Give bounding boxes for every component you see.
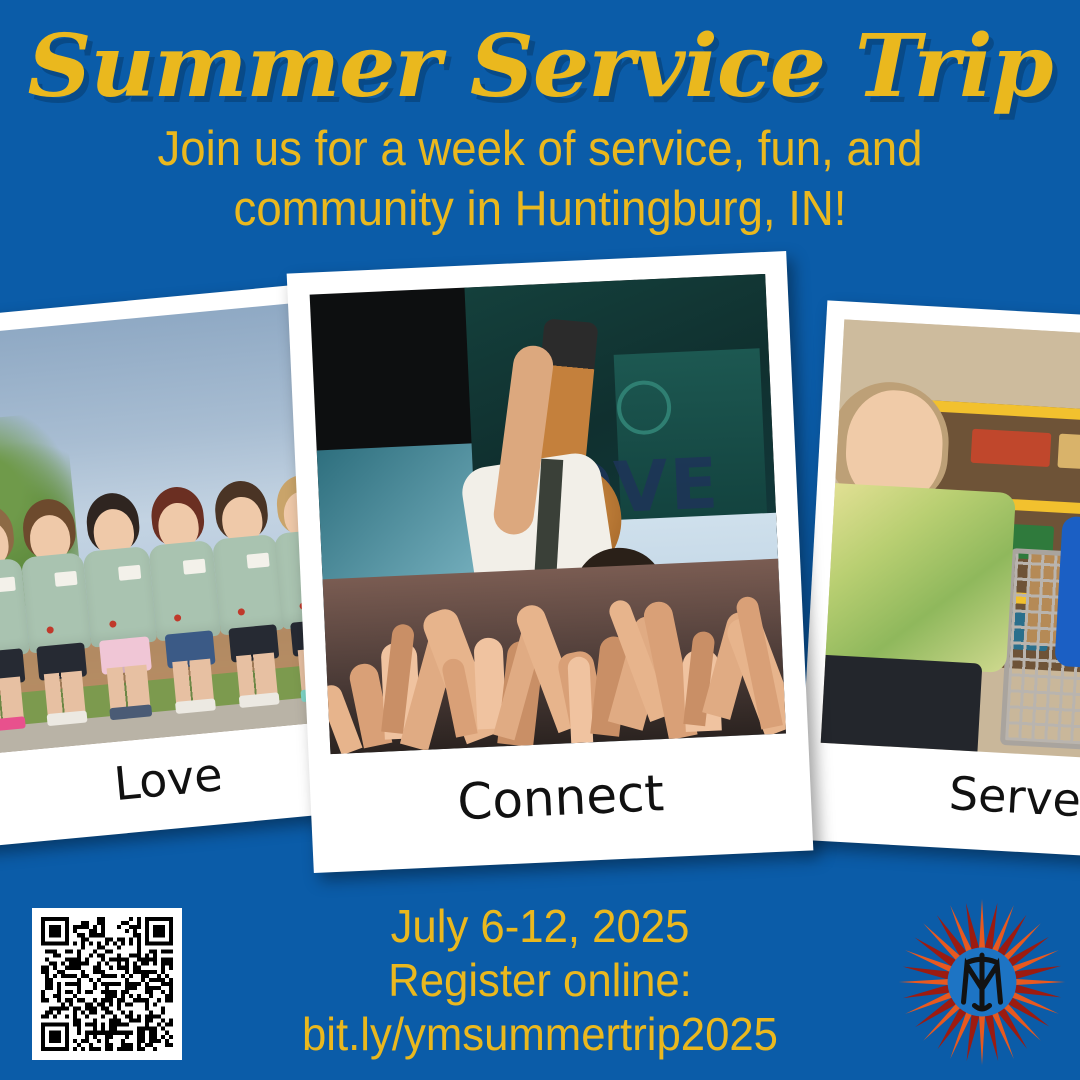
photo-crowd-surf: LOVE SERVE [310, 274, 786, 754]
raised-hand [567, 656, 593, 743]
church-sunburst-monogram-logo [898, 898, 1066, 1066]
photo-caption-serve: Serve [816, 743, 1080, 851]
trip-dates: July 6-12, 2025 [208, 900, 873, 954]
polaroid-serve: M Serve [797, 300, 1080, 863]
polaroid-connect: LOVE SERVE Connect [287, 251, 814, 873]
qr-code-canvas[interactable] [41, 917, 173, 1051]
photo-food-pantry: M [821, 319, 1080, 764]
photo-caption-connect: Connect [330, 733, 790, 862]
poster-header: Summer Service Trip Join us for a week o… [0, 0, 1080, 240]
register-label: Register online: [208, 954, 873, 1008]
subtitle-line-1: Join us for a week of service, fun, and [94, 120, 987, 180]
footer-details: July 6-12, 2025 Register online: bit.ly/… [208, 900, 873, 1061]
poster-canvas: Summer Service Trip Join us for a week o… [0, 0, 1080, 1080]
registration-url[interactable]: bit.ly/ymsummertrip2025 [208, 1008, 873, 1062]
subtitle-line-2: community in Huntingburg, IN! [94, 180, 987, 240]
page-title: Summer Service Trip [0, 0, 1080, 110]
poster-subtitle: Join us for a week of service, fun, and … [94, 120, 987, 240]
qr-code[interactable] [32, 908, 182, 1060]
person-figure-girl [821, 386, 1022, 753]
